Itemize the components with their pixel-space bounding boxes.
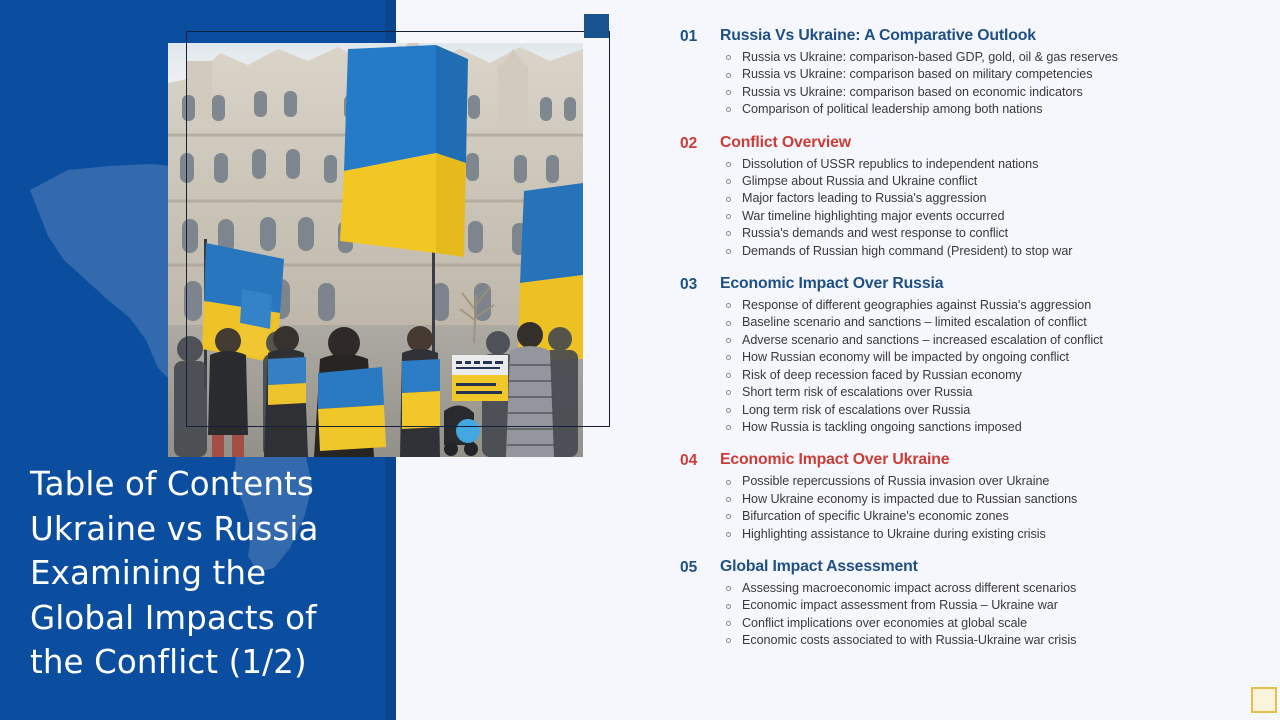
title-line-3: Examining the — [30, 551, 382, 596]
toc-section-body: Economic Impact Over RussiaResponse of d… — [720, 274, 1220, 436]
toc-list-item[interactable]: Major factors leading to Russia's aggres… — [720, 190, 1220, 207]
toc-list-item[interactable]: Russia vs Ukraine: comparison-based GDP,… — [720, 49, 1220, 66]
toc-list-item[interactable]: Dissolution of USSR republics to indepen… — [720, 156, 1220, 173]
circle-bullet-icon — [726, 162, 731, 167]
toc-section-02[interactable]: 02Conflict OverviewDissolution of USSR r… — [680, 133, 1220, 260]
circle-bullet-icon — [726, 497, 731, 502]
circle-bullet-icon — [726, 231, 731, 236]
toc-list-item[interactable]: Russia vs Ukraine: comparison based on e… — [720, 84, 1220, 101]
gold-square-accent — [1251, 687, 1277, 713]
toc-item-list: Assessing macroeconomic impact across di… — [720, 580, 1220, 650]
toc-list-item-label: Adverse scenario and sanctions – increas… — [742, 333, 1103, 347]
toc-list-item-label: Long term risk of escalations over Russi… — [742, 403, 970, 417]
toc-list-item-label: Response of different geographies agains… — [742, 298, 1091, 312]
circle-bullet-icon — [726, 55, 731, 60]
toc-list-item[interactable]: Demands of Russian high command (Preside… — [720, 243, 1220, 260]
toc-list-item-label: Bifurcation of specific Ukraine's econom… — [742, 509, 1009, 523]
circle-bullet-icon — [726, 425, 731, 430]
toc-list-item[interactable]: Russia's demands and west response to co… — [720, 225, 1220, 242]
toc-list-item-label: How Russian economy will be impacted by … — [742, 350, 1069, 364]
toc-list-item[interactable]: Response of different geographies agains… — [720, 297, 1220, 314]
toc-list-item[interactable]: Conflict implications over economies at … — [720, 615, 1220, 632]
toc-item-list: Dissolution of USSR republics to indepen… — [720, 156, 1220, 260]
toc-list-item-label: How Ukraine economy is impacted due to R… — [742, 492, 1077, 506]
toc-list-item[interactable]: How Russian economy will be impacted by … — [720, 349, 1220, 366]
toc-section-body: Global Impact AssessmentAssessing macroe… — [720, 557, 1220, 650]
toc-section-number: 04 — [680, 450, 720, 471]
toc-section-title[interactable]: Global Impact Assessment — [720, 557, 1220, 577]
toc-list-item-label: Highlighting assistance to Ukraine durin… — [742, 527, 1046, 541]
toc-section-body: Russia Vs Ukraine: A Comparative Outlook… — [720, 26, 1220, 119]
circle-bullet-icon — [726, 638, 731, 643]
toc-list-item[interactable]: Highlighting assistance to Ukraine durin… — [720, 526, 1220, 543]
circle-bullet-icon — [726, 338, 731, 343]
title-line-1: Table of Contents — [30, 462, 382, 507]
circle-bullet-icon — [726, 390, 731, 395]
toc-list-item-label: Dissolution of USSR republics to indepen… — [742, 157, 1038, 171]
toc-section-number: 02 — [680, 133, 720, 154]
circle-bullet-icon — [726, 107, 731, 112]
toc-list-item[interactable]: Possible repercussions of Russia invasio… — [720, 473, 1220, 490]
toc-list-item-label: Assessing macroeconomic impact across di… — [742, 581, 1076, 595]
circle-bullet-icon — [726, 480, 731, 485]
toc-section-05[interactable]: 05Global Impact AssessmentAssessing macr… — [680, 557, 1220, 650]
toc-list-item-label: Demands of Russian high command (Preside… — [742, 244, 1072, 258]
circle-bullet-icon — [726, 197, 731, 202]
toc-section-number: 05 — [680, 557, 720, 578]
circle-bullet-icon — [726, 73, 731, 78]
circle-bullet-icon — [726, 514, 731, 519]
toc-list-item[interactable]: Adverse scenario and sanctions – increas… — [720, 332, 1220, 349]
toc-list-item[interactable]: Russia vs Ukraine: comparison based on m… — [720, 66, 1220, 83]
page-title: Table of Contents Ukraine vs Russia Exam… — [30, 462, 382, 685]
toc-section-number: 01 — [680, 26, 720, 47]
title-line-5: the Conflict (1/2) — [30, 640, 382, 685]
circle-bullet-icon — [726, 373, 731, 378]
circle-bullet-icon — [726, 586, 731, 591]
toc-list-item-label: Glimpse about Russia and Ukraine conflic… — [742, 174, 977, 188]
toc-section-title[interactable]: Russia Vs Ukraine: A Comparative Outlook — [720, 26, 1220, 46]
circle-bullet-icon — [726, 604, 731, 609]
toc-list-item[interactable]: How Russia is tackling ongoing sanctions… — [720, 419, 1220, 436]
toc-list-item[interactable]: Short term risk of escalations over Russ… — [720, 384, 1220, 401]
toc-list-item-label: Comparison of political leadership among… — [742, 102, 1042, 116]
circle-bullet-icon — [726, 321, 731, 326]
circle-bullet-icon — [726, 621, 731, 626]
toc-list-item[interactable]: Baseline scenario and sanctions – limite… — [720, 314, 1220, 331]
title-line-4: Global Impacts of — [30, 596, 382, 641]
toc-section-title[interactable]: Conflict Overview — [720, 133, 1220, 153]
circle-bullet-icon — [726, 355, 731, 360]
circle-bullet-icon — [726, 532, 731, 537]
toc-list-item-label: War timeline highlighting major events o… — [742, 209, 1004, 223]
toc-list-item[interactable]: Bifurcation of specific Ukraine's econom… — [720, 508, 1220, 525]
circle-bullet-icon — [726, 214, 731, 219]
toc-list-item-label: How Russia is tackling ongoing sanctions… — [742, 420, 1022, 434]
toc-list-item[interactable]: Economic impact assessment from Russia –… — [720, 597, 1220, 614]
toc-item-list: Response of different geographies agains… — [720, 297, 1220, 436]
toc-list-item-label: Economic costs associated to with Russia… — [742, 633, 1076, 647]
toc-list-item[interactable]: Economic costs associated to with Russia… — [720, 632, 1220, 649]
toc-list-item[interactable]: Assessing macroeconomic impact across di… — [720, 580, 1220, 597]
toc-list-item-label: Major factors leading to Russia's aggres… — [742, 191, 987, 205]
toc-list-item-label: Possible repercussions of Russia invasio… — [742, 474, 1049, 488]
blue-square-accent — [584, 14, 609, 38]
photo-outline-frame — [186, 31, 610, 427]
toc-list-item-label: Russia vs Ukraine: comparison-based GDP,… — [742, 50, 1118, 64]
toc-item-list: Russia vs Ukraine: comparison-based GDP,… — [720, 49, 1220, 119]
toc-list-item-label: Conflict implications over economies at … — [742, 616, 1027, 630]
slide-canvas: Table of Contents Ukraine vs Russia Exam… — [0, 0, 1280, 720]
toc-section-number: 03 — [680, 274, 720, 295]
toc-list-item-label: Russia vs Ukraine: comparison based on e… — [742, 85, 1083, 99]
toc-list-item[interactable]: Comparison of political leadership among… — [720, 101, 1220, 118]
toc-list-item-label: Risk of deep recession faced by Russian … — [742, 368, 1022, 382]
circle-bullet-icon — [726, 90, 731, 95]
toc-section-01[interactable]: 01Russia Vs Ukraine: A Comparative Outlo… — [680, 26, 1220, 119]
toc-section-04[interactable]: 04Economic Impact Over UkrainePossible r… — [680, 450, 1220, 543]
toc-list-item-label: Russia's demands and west response to co… — [742, 226, 1008, 240]
toc-list-item-label: Short term risk of escalations over Russ… — [742, 385, 972, 399]
circle-bullet-icon — [726, 179, 731, 184]
toc-section-body: Economic Impact Over UkrainePossible rep… — [720, 450, 1220, 543]
toc-list-item-label: Russia vs Ukraine: comparison based on m… — [742, 67, 1092, 81]
toc-section-title[interactable]: Economic Impact Over Russia — [720, 274, 1220, 294]
toc-list-item-label: Baseline scenario and sanctions – limite… — [742, 315, 1087, 329]
toc-list-item[interactable]: Long term risk of escalations over Russi… — [720, 402, 1220, 419]
toc-list-item[interactable]: How Ukraine economy is impacted due to R… — [720, 491, 1220, 508]
toc-section-body: Conflict OverviewDissolution of USSR rep… — [720, 133, 1220, 260]
toc-item-list: Possible repercussions of Russia invasio… — [720, 473, 1220, 543]
circle-bullet-icon — [726, 408, 731, 413]
circle-bullet-icon — [726, 303, 731, 308]
toc-list-item[interactable]: Risk of deep recession faced by Russian … — [720, 367, 1220, 384]
toc-list-item[interactable]: Glimpse about Russia and Ukraine conflic… — [720, 173, 1220, 190]
toc-section-title[interactable]: Economic Impact Over Ukraine — [720, 450, 1220, 470]
circle-bullet-icon — [726, 249, 731, 254]
toc-list-item[interactable]: War timeline highlighting major events o… — [720, 208, 1220, 225]
toc-list-item-label: Economic impact assessment from Russia –… — [742, 598, 1058, 612]
toc-section-03[interactable]: 03Economic Impact Over RussiaResponse of… — [680, 274, 1220, 436]
table-of-contents: 01Russia Vs Ukraine: A Comparative Outlo… — [680, 26, 1220, 650]
title-line-2: Ukraine vs Russia — [30, 507, 382, 552]
